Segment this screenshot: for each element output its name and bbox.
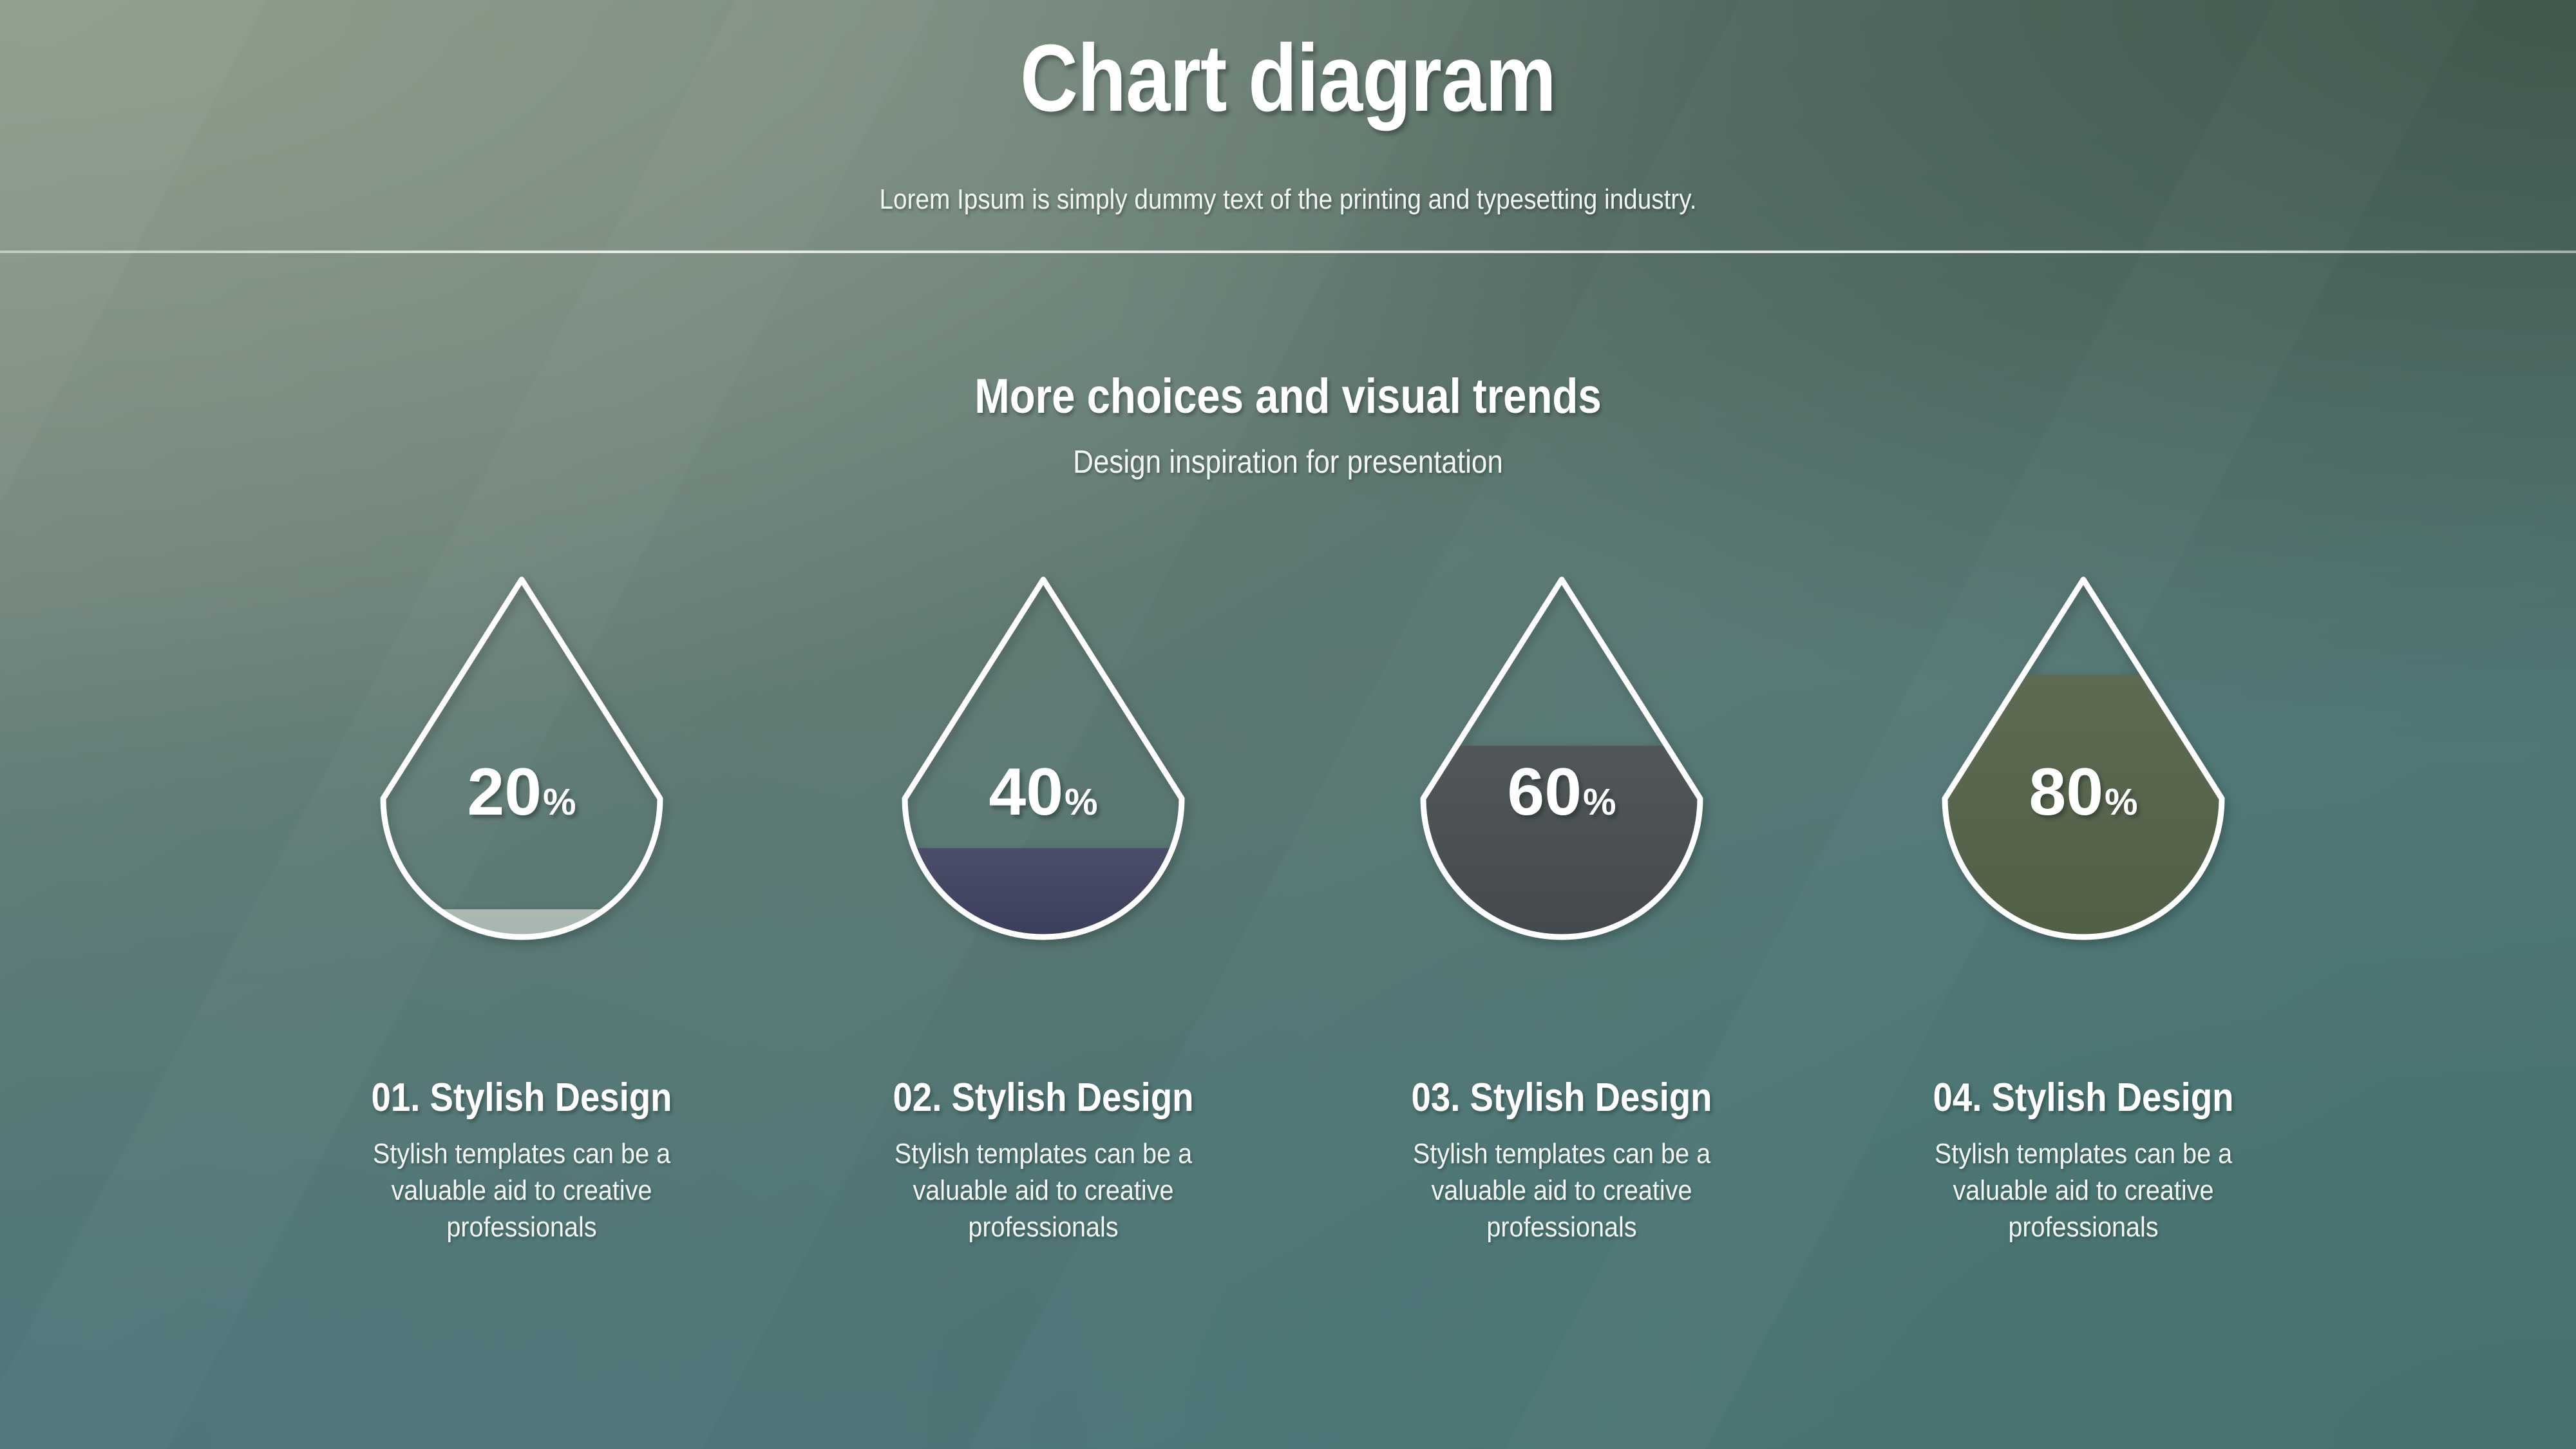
water-drop-icon-4	[1819, 567, 2347, 1005]
item-title-1: 01. Stylish Design	[289, 1077, 754, 1119]
section-title: More choices and visual trends	[180, 368, 2396, 424]
item-body-3: Stylish templates can be a valuable aid …	[1324, 1135, 1799, 1246]
item-caption-3: 03. Stylish Design Stylish templates can…	[1298, 1077, 1826, 1246]
slide-canvas: Chart diagram Lorem Ipsum is simply dumm…	[0, 0, 2576, 1449]
droplet-shape-1: 20%	[258, 567, 786, 1005]
droplet-gauge-1[interactable]: 20%	[258, 567, 786, 1005]
item-caption-1: 01. Stylish Design Stylish templates can…	[258, 1077, 786, 1246]
item-title-2: 02. Stylish Design	[811, 1077, 1276, 1119]
header-divider	[0, 251, 2576, 253]
item-body-2: Stylish templates can be a valuable aid …	[806, 1135, 1281, 1246]
droplet-gauge-2[interactable]: 40%	[779, 567, 1307, 1005]
item-body-4: Stylish templates can be a valuable aid …	[1846, 1135, 2321, 1246]
water-drop-icon-1	[258, 567, 786, 1005]
page-title: Chart diagram	[206, 31, 2370, 126]
droplet-outline-1	[383, 580, 660, 937]
droplet-shape-2: 40%	[779, 567, 1307, 1005]
slide-header: Chart diagram Lorem Ipsum is simply dumm…	[0, 0, 2576, 253]
item-title-4: 04. Stylish Design	[1851, 1077, 2316, 1119]
section-subtitle: Design inspiration for presentation	[155, 443, 2421, 480]
item-title-3: 03. Stylish Design	[1329, 1077, 1794, 1119]
water-drop-icon-2	[779, 567, 1307, 1005]
item-body-1: Stylish templates can be a valuable aid …	[284, 1135, 759, 1246]
droplet-shape-3: 60%	[1298, 567, 1826, 1005]
droplet-shape-4: 80%	[1819, 567, 2347, 1005]
droplet-gauge-3[interactable]: 60%	[1298, 567, 1826, 1005]
droplet-gauge-4[interactable]: 80%	[1819, 567, 2347, 1005]
water-drop-icon-3	[1298, 567, 1826, 1005]
item-caption-2: 02. Stylish Design Stylish templates can…	[779, 1077, 1307, 1246]
item-caption-4: 04. Stylish Design Stylish templates can…	[1819, 1077, 2347, 1246]
page-subtitle: Lorem Ipsum is simply dummy text of the …	[155, 184, 2421, 216]
